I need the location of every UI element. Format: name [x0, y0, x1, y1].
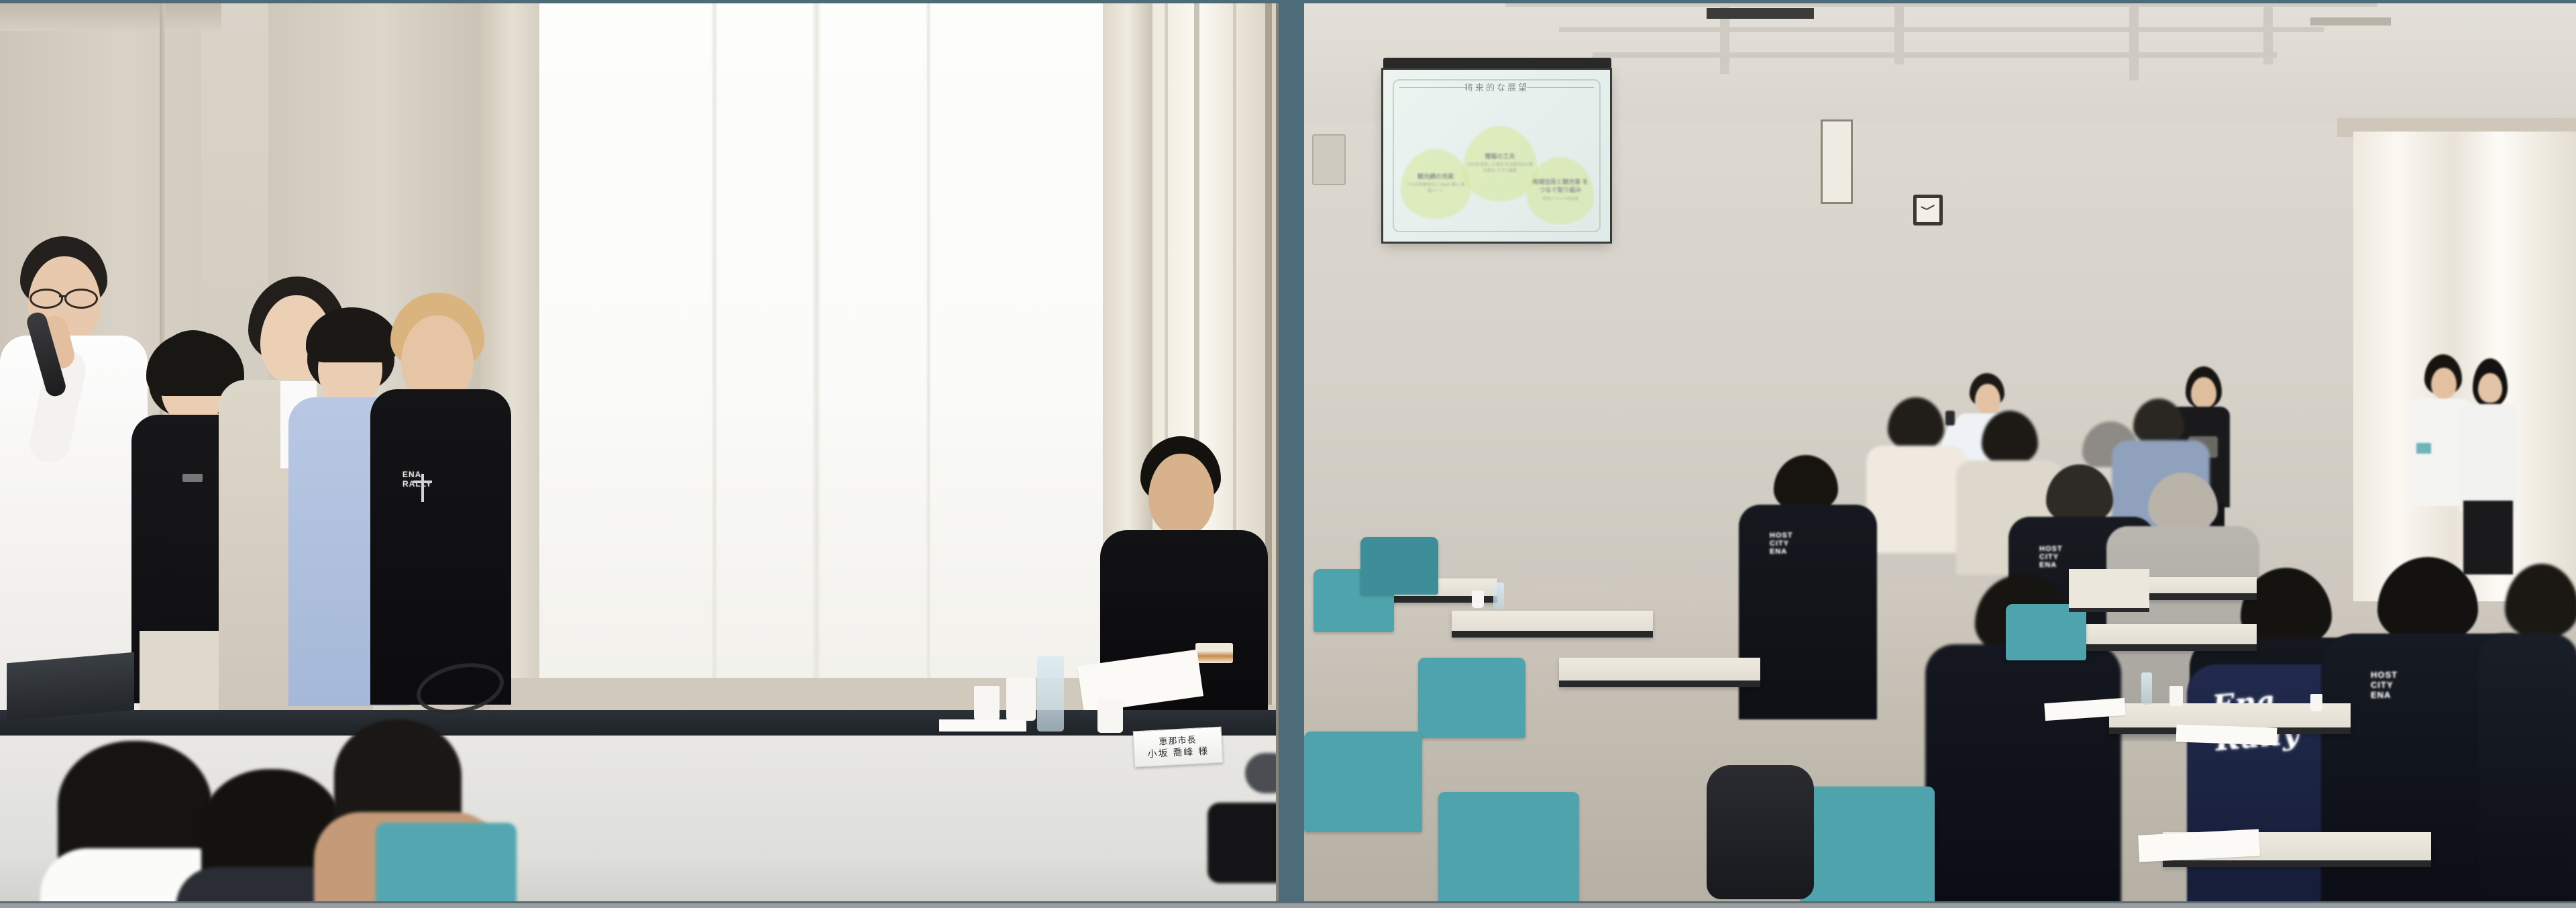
equipment-table: [2069, 569, 2149, 612]
placard-line-2: 小坂 喬峰 様: [1147, 746, 1209, 760]
whiteboard: [1821, 119, 1853, 204]
water-bottle: [1493, 583, 1504, 609]
sheer-fold: [812, 0, 821, 678]
jacket-chest-logo: [182, 474, 203, 482]
wall-speaker: [1312, 134, 1346, 185]
paper-cup: [2310, 694, 2322, 711]
tray: [939, 719, 1026, 732]
ceiling-vent: [1707, 8, 1814, 19]
cross-necklace-bar: [413, 481, 432, 483]
desk: [1452, 611, 1653, 638]
ceiling-molding: [0, 0, 221, 31]
laptop-device: [7, 652, 134, 721]
student-trousers: [2463, 501, 2513, 574]
photo-composite: ENA RALLY 恵那市長: [0, 0, 2576, 908]
lanyard-badge: [2416, 443, 2431, 454]
sheer-fold: [926, 0, 931, 678]
paper-cup: [974, 686, 1000, 721]
presentation-clicker: [1945, 411, 1955, 425]
projector-screen: 将来的な展望 観光網の充実 バスの利便性向上 MaaS 導入 周遊ルート 情報の…: [1383, 70, 1610, 242]
handout-paper: [2176, 724, 2277, 745]
ceiling-light: [2310, 17, 2391, 26]
slide-title: 将来的な展望: [1383, 81, 1610, 93]
paper-cup: [2169, 686, 2183, 706]
cross-necklace: [421, 474, 424, 502]
sheer-fold: [711, 0, 718, 678]
water-bottle: [2141, 672, 2152, 705]
presenter-table-edge: [0, 710, 1279, 738]
photo-divider: [1279, 0, 1304, 908]
water-bottle: [1037, 656, 1064, 732]
polo-back-text: HOST CITY ENA: [2039, 545, 2063, 569]
paper-cup: [1472, 591, 1484, 608]
chair: [2006, 604, 2086, 660]
name-placard: 恵那市長 小坂 喬峰 様: [1133, 727, 1224, 768]
desk: [1559, 658, 1760, 687]
paper-cup: [1006, 678, 1036, 721]
chair: [1801, 787, 1935, 908]
polo-back-text: HOST CITY ENA: [2371, 670, 2398, 700]
chair: [1360, 537, 1438, 595]
bottom-trim-strip: [0, 903, 2576, 908]
chair: [1418, 658, 1525, 738]
polo-chest-patch: [1195, 643, 1233, 663]
wall-clock: [1913, 195, 1943, 225]
glasses-icon: [30, 289, 99, 305]
right-photograph: 将来的な展望 観光網の充実 バスの利便性向上 MaaS 導入 周遊ルート 情報の…: [1304, 0, 2576, 908]
placard-line-1: 恵那市長: [1159, 735, 1197, 746]
tee-chest-print: ENA RALLY: [402, 470, 432, 489]
paper-cup: [1097, 699, 1123, 733]
chair: [1438, 792, 1579, 908]
polo-back-text: HOST CITY ENA: [1770, 532, 1793, 556]
left-photograph: ENA RALLY 恵那市長: [0, 0, 1279, 908]
top-trim-strip: [0, 0, 2576, 3]
chair: [1304, 732, 1422, 832]
backpack-on-floor: [1707, 765, 1814, 899]
